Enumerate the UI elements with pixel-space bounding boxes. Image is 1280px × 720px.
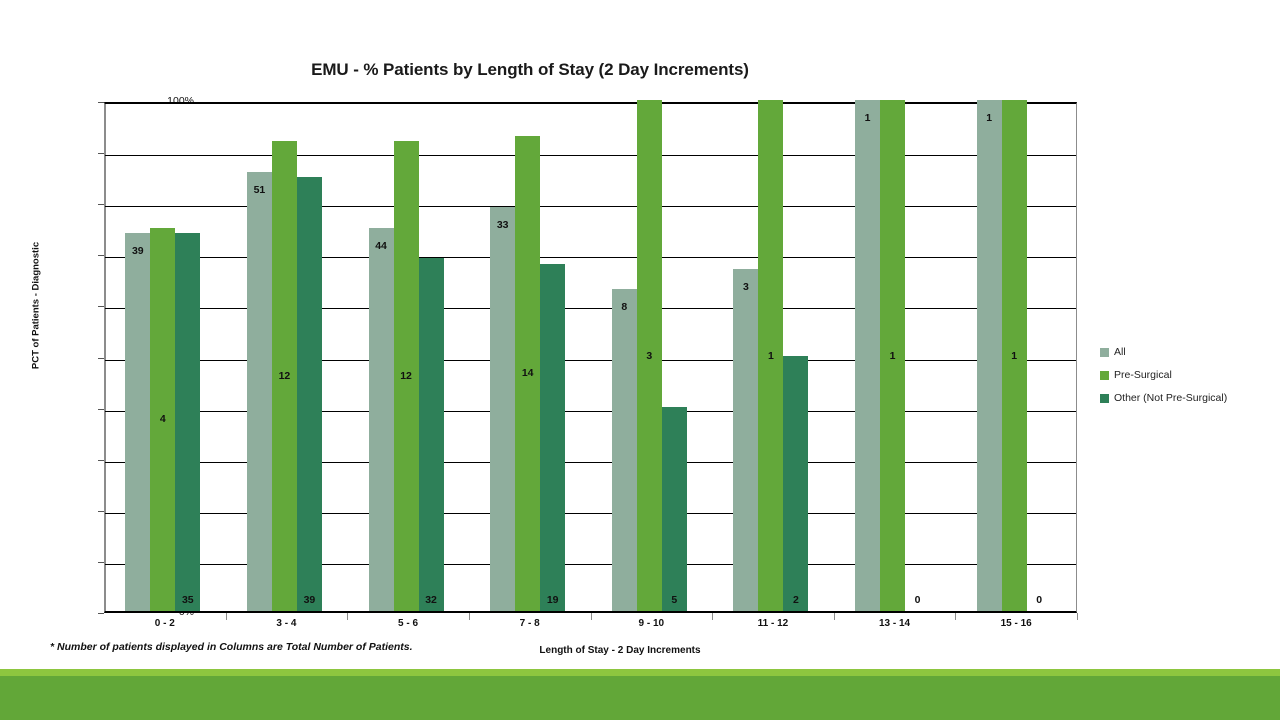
plot-area: 39435511239441232331419835312110110 (104, 102, 1077, 613)
x-axis-tick-label: 0 - 2 (105, 618, 225, 629)
bar-data-label: 14 (515, 368, 540, 379)
bar-group: 835 (592, 104, 714, 611)
bar-pre-surgical[interactable]: 12 (394, 141, 419, 611)
bar-all[interactable]: 51 (247, 172, 272, 611)
bar-all[interactable]: 1 (855, 100, 880, 611)
x-axis-tick-label: 7 - 8 (470, 618, 590, 629)
bar-data-label: 0 (1027, 595, 1052, 606)
bar-data-label: 33 (490, 220, 515, 231)
slide-canvas: EMU - % Patients by Length of Stay (2 Da… (0, 0, 1280, 720)
bar-other-not-pre-surgical[interactable]: 19 (540, 264, 565, 611)
x-axis-tick-label: 15 - 16 (956, 618, 1076, 629)
bar-data-label: 1 (880, 351, 905, 362)
bar-pre-surgical[interactable]: 3 (637, 100, 662, 611)
bar-data-label: 2 (783, 595, 808, 606)
bar-other-not-pre-surgical[interactable]: 5 (662, 407, 687, 611)
bar-other-not-pre-surgical[interactable]: 2 (783, 356, 808, 612)
legend-label: All (1114, 346, 1126, 358)
bar-data-label: 19 (540, 595, 565, 606)
bar-data-label: 8 (612, 302, 637, 313)
bar-data-label: 44 (369, 241, 394, 252)
legend-swatch-icon (1100, 394, 1109, 403)
bar-pre-surgical[interactable]: 1 (758, 100, 783, 611)
bar-data-label: 1 (977, 113, 1002, 124)
x-axis-tick-label: 9 - 10 (591, 618, 711, 629)
bar-data-label: 12 (272, 371, 297, 382)
legend-label: Other (Not Pre-Surgical) (1114, 392, 1227, 404)
legend-item[interactable]: All (1100, 346, 1270, 358)
bar-other-not-pre-surgical[interactable]: 39 (297, 177, 322, 611)
accent-band-light (0, 669, 1280, 676)
bar-data-label: 32 (419, 595, 444, 606)
legend-swatch-icon (1100, 348, 1109, 357)
bar-pre-surgical[interactable]: 14 (515, 136, 540, 611)
bar-group: 39435 (105, 104, 227, 611)
bar-data-label: 0 (905, 595, 930, 606)
bar-data-label: 39 (297, 595, 322, 606)
x-axis-tick-label: 5 - 6 (348, 618, 468, 629)
chart-title: EMU - % Patients by Length of Stay (2 Da… (0, 60, 1060, 80)
x-axis-tick-label: 11 - 12 (713, 618, 833, 629)
x-axis-tick-label: 13 - 14 (835, 618, 955, 629)
bar-all[interactable]: 3 (733, 269, 758, 611)
bar-data-label: 51 (247, 185, 272, 196)
accent-band-main (0, 676, 1280, 720)
bar-all[interactable]: 39 (125, 233, 150, 611)
bar-group: 511239 (227, 104, 349, 611)
bar-data-label: 1 (855, 113, 880, 124)
legend-swatch-icon (1100, 371, 1109, 380)
x-axis-tick-mark (1077, 613, 1078, 620)
legend-item[interactable]: Pre-Surgical (1100, 369, 1270, 381)
x-axis-tick-label: 3 - 4 (226, 618, 346, 629)
bar-pre-surgical[interactable]: 1 (1002, 100, 1027, 611)
bar-data-label: 4 (150, 414, 175, 425)
legend-item[interactable]: Other (Not Pre-Surgical) (1100, 392, 1270, 404)
y-axis-title: PCT of Patients - Diagnostic (31, 226, 42, 386)
x-axis-title: Length of Stay - 2 Day Increments (395, 645, 845, 656)
bar-all[interactable]: 44 (369, 228, 394, 611)
bar-other-not-pre-surgical[interactable]: 35 (175, 233, 200, 611)
bar-data-label: 39 (125, 246, 150, 257)
bar-group: 110 (956, 104, 1078, 611)
bar-all[interactable]: 1 (977, 100, 1002, 611)
bar-all[interactable]: 8 (612, 289, 637, 611)
bar-data-label: 3 (733, 282, 758, 293)
bar-pre-surgical[interactable]: 4 (150, 228, 175, 611)
bar-group: 331419 (470, 104, 592, 611)
bar-group: 441232 (348, 104, 470, 611)
bar-data-label: 1 (758, 351, 783, 362)
bar-data-label: 3 (637, 351, 662, 362)
footnote: * Number of patients displayed in Column… (50, 641, 413, 653)
legend-label: Pre-Surgical (1114, 369, 1172, 381)
bar-pre-surgical[interactable]: 12 (272, 141, 297, 611)
bar-group: 110 (835, 104, 957, 611)
bar-other-not-pre-surgical[interactable]: 32 (419, 258, 444, 611)
bar-pre-surgical[interactable]: 1 (880, 100, 905, 611)
bar-data-label: 1 (1002, 351, 1027, 362)
legend: AllPre-SurgicalOther (Not Pre-Surgical) (1100, 346, 1270, 415)
bar-group: 312 (713, 104, 835, 611)
y-axis-tick-mark (98, 613, 104, 614)
bar-data-label: 12 (394, 371, 419, 382)
bar-data-label: 5 (662, 595, 687, 606)
bar-all[interactable]: 33 (490, 207, 515, 611)
bar-data-label: 35 (175, 595, 200, 606)
